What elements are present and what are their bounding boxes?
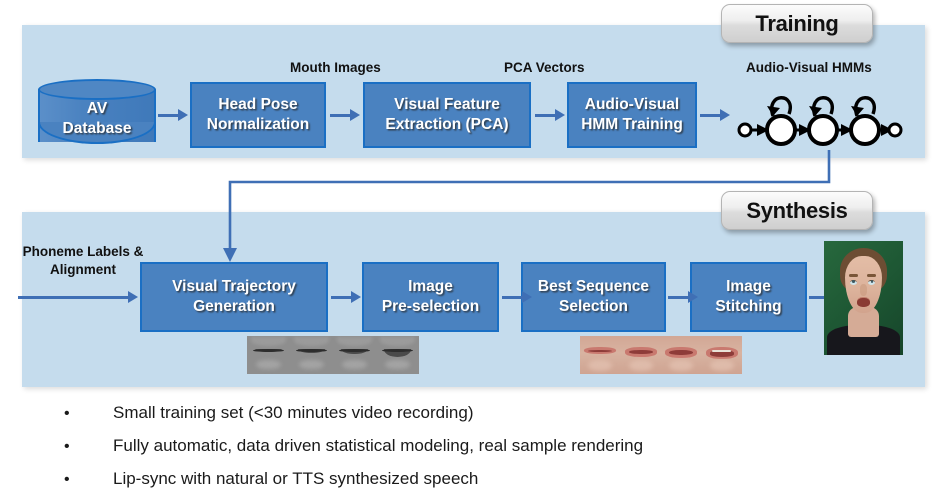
mouth-upper: [337, 337, 371, 346]
arrow-hmmtraining-to-hmmdiagram: [700, 109, 730, 121]
arrow-shaft: [330, 114, 352, 117]
box-head-pose-normalization[interactable]: Head Pose Normalization: [190, 82, 326, 148]
arrow-head: [350, 109, 360, 121]
phoneme-input-label: Phoneme Labels & Alignment: [8, 243, 158, 279]
training-to-synthesis-connector: [210, 150, 850, 270]
mouth-frame: [333, 336, 376, 374]
box-bestsequence-line2: Selection: [538, 297, 649, 317]
arrow-head: [351, 291, 361, 303]
list-item: • Lip-sync with natural or TTS synthesiz…: [64, 469, 894, 489]
arrow-shaft: [331, 296, 353, 299]
bullet-marker: •: [64, 472, 113, 488]
arrow-shaft: [535, 114, 557, 117]
box-image-stitching[interactable]: Image Stitching: [690, 262, 807, 332]
arrow-head: [128, 291, 138, 303]
mouth-upper: [251, 337, 285, 346]
box-stitching-line1: Image: [715, 277, 781, 297]
mouth-frame: [661, 336, 702, 374]
arrow-preselection-to-bestsequence: [502, 291, 532, 303]
phoneme-label-line1: Phoneme Labels &: [8, 243, 158, 261]
mouth-lip-line: [253, 349, 284, 352]
box-hmm-training-line1: Audio-Visual: [581, 95, 683, 115]
arrow-visualfeature-to-hmmtraining: [535, 109, 565, 121]
mouth-chin: [299, 360, 323, 370]
av-database-line2: Database: [63, 119, 132, 139]
photo-eyebrow-right: [867, 274, 876, 277]
box-hmm-training-line2: HMM Training: [581, 115, 683, 135]
bullet-marker: •: [64, 439, 113, 455]
bullet-marker: •: [64, 406, 113, 422]
mouth-frame: [621, 336, 662, 374]
mouth-chin: [256, 360, 280, 370]
bullet-text: Small training set (<30 minutes video re…: [113, 403, 894, 423]
mouth-frame: [702, 336, 743, 374]
arrow-shaft: [700, 114, 722, 117]
arrow-head: [688, 291, 698, 303]
mouth-frame: [580, 336, 621, 374]
arrow-head: [178, 109, 188, 121]
mouth-chin: [710, 360, 734, 371]
box-image-pre-selection[interactable]: Image Pre-selection: [362, 262, 499, 332]
mouth-frame: [247, 336, 290, 374]
arrow-shaft: [158, 114, 180, 117]
arrow-database-to-headpose: [158, 109, 188, 121]
arrow-shaft: [18, 296, 130, 299]
training-stage-badge[interactable]: Training: [721, 4, 873, 43]
box-best-sequence-selection[interactable]: Best Sequence Selection: [521, 262, 666, 332]
bullet-text: Fully automatic, data driven statistical…: [113, 436, 894, 456]
box-head-pose-line1: Head Pose: [207, 95, 309, 115]
mouth-lip-line: [339, 349, 370, 352]
box-preselection-line1: Image: [382, 277, 479, 297]
mouth-upper: [294, 337, 328, 346]
generated-mouth-strip-grayscale: [247, 336, 419, 374]
mouth-chin: [342, 360, 366, 370]
av-database-cylinder[interactable]: AV Database: [38, 79, 156, 152]
arrow-head: [555, 109, 565, 121]
av-database-line1: AV: [87, 99, 107, 119]
box-bestsequence-line1: Best Sequence: [538, 277, 649, 297]
arrow-head: [522, 291, 532, 303]
arrow-bestsequence-to-stitching: [668, 291, 698, 303]
box-trajectory-line1: Visual Trajectory: [172, 277, 296, 297]
caption-pca-vectors: PCA Vectors: [504, 60, 585, 75]
arrow-shaft: [502, 296, 524, 299]
training-badge-label: Training: [755, 11, 838, 37]
arrow-head: [720, 109, 730, 121]
photo-mouth: [857, 298, 870, 307]
photo-nose: [860, 284, 867, 295]
mouth-lip-line: [296, 349, 327, 352]
box-visual-feature-extraction[interactable]: Visual Feature Extraction (PCA): [363, 82, 531, 148]
mouth-chin: [385, 360, 409, 370]
av-database-label: AV Database: [38, 93, 156, 145]
box-visual-feature-line1: Visual Feature: [385, 95, 508, 115]
photo-eyebrow-left: [849, 274, 858, 277]
list-item: • Small training set (<30 minutes video …: [64, 403, 894, 423]
list-item: • Fully automatic, data driven statistic…: [64, 436, 894, 456]
mouth-frame: [376, 336, 419, 374]
mouth-frame: [290, 336, 333, 374]
box-preselection-line2: Pre-selection: [382, 297, 479, 317]
feature-bullet-list: • Small training set (<30 minutes video …: [64, 403, 894, 502]
arrow-shaft: [668, 296, 690, 299]
hmm-state-diagram-icon: [735, 86, 905, 146]
box-head-pose-line2: Normalization: [207, 115, 309, 135]
box-audio-visual-hmm-training[interactable]: Audio-Visual HMM Training: [567, 82, 697, 148]
caption-mouth-images: Mouth Images: [290, 60, 381, 75]
box-trajectory-line2: Generation: [172, 297, 296, 317]
arrow-phoneme-to-trajectory: [18, 291, 138, 303]
mouth-lip-line: [382, 349, 413, 352]
mouth-upper: [380, 337, 414, 346]
selected-mouth-strip-color: [580, 336, 742, 374]
box-visual-trajectory-generation[interactable]: Visual Trajectory Generation: [140, 262, 328, 332]
arrow-trajectory-to-preselection: [331, 291, 361, 303]
arrow-headpose-to-visualfeature: [330, 109, 360, 121]
phoneme-label-line2: Alignment: [8, 261, 158, 279]
caption-audio-visual-hmms: Audio-Visual HMMs: [746, 60, 872, 75]
box-visual-feature-line2: Extraction (PCA): [385, 115, 508, 135]
bullet-text: Lip-sync with natural or TTS synthesized…: [113, 469, 894, 489]
box-stitching-line2: Stitching: [715, 297, 781, 317]
mouth-chin: [629, 360, 653, 371]
